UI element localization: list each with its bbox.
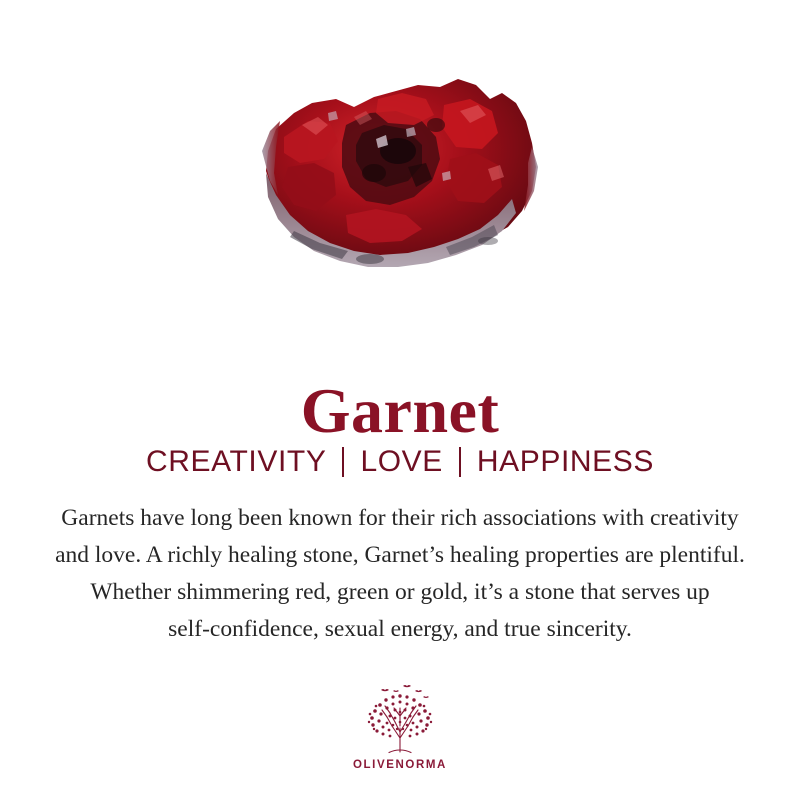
garnet-info-card: Garnet CREATIVITYLOVEHAPPINESS Garnets h… [0,0,800,800]
keyword-separator-1 [342,447,344,477]
keyword-creativity: CREATIVITY [146,445,326,478]
hero-image-area [0,0,800,300]
keyword-separator-2 [459,447,461,477]
description-paragraph: Garnets have long been known for their r… [22,500,778,648]
garnet-stone-image [250,55,550,280]
description-line: and love. A richly healing stone, Garnet… [22,537,778,574]
description-line: Garnets have long been known for their r… [22,500,778,537]
olive-tree-with-birds-icon [357,682,443,756]
brand-wordmark: OLIVENORMA [353,759,447,771]
brand-logo: OLIVENORMA [0,682,800,771]
description-line: self-confidence, sexual energy, and true… [22,611,778,648]
keyword-happiness: HAPPINESS [477,445,654,478]
page-title: Garnet [0,379,800,443]
keyword-love: LOVE [360,445,442,478]
description-line: Whether shimmering red, green or gold, i… [22,574,778,611]
keywords-line: CREATIVITYLOVEHAPPINESS [0,444,800,480]
